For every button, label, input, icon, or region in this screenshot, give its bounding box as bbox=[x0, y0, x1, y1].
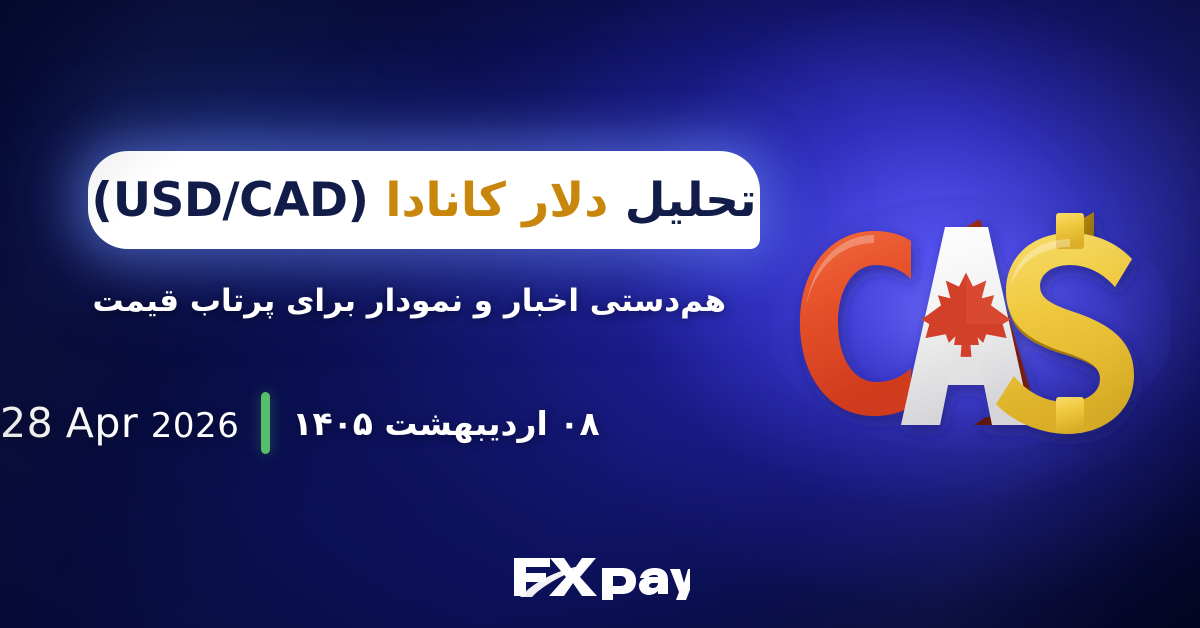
subtitle-text: هم‌دستی اخبار و نمودار برای پرتاب قیمت bbox=[0, 283, 726, 319]
date-gregorian-day: 28 bbox=[0, 399, 53, 447]
date-gregorian: 28 Apr 2026 bbox=[0, 399, 239, 447]
title-pill-badge: تحلیل دلار کانادا (USD/CAD) bbox=[88, 151, 760, 249]
date-gregorian-month: Apr bbox=[66, 399, 138, 447]
title-segment-currency: دلار کانادا bbox=[385, 173, 608, 228]
page-title: تحلیل دلار کانادا (USD/CAD) bbox=[91, 177, 756, 224]
canadian-dollar-icon bbox=[770, 195, 1170, 460]
title-segment-analysis: تحلیل bbox=[625, 173, 757, 228]
promo-banner: تحلیل دلار کانادا (USD/CAD) هم‌دستی اخبا… bbox=[0, 0, 1200, 628]
date-jalali: ۰۸ اردیبهشت ۱۴۰۵ bbox=[292, 404, 599, 443]
title-segment-pair: (USD/CAD) bbox=[91, 173, 369, 228]
date-row: ۰۸ اردیبهشت ۱۴۰۵ 28 Apr 2026 bbox=[0, 390, 726, 456]
fxpay-logo bbox=[510, 552, 690, 600]
date-divider bbox=[261, 392, 270, 454]
date-gregorian-year: 2026 bbox=[151, 406, 240, 446]
